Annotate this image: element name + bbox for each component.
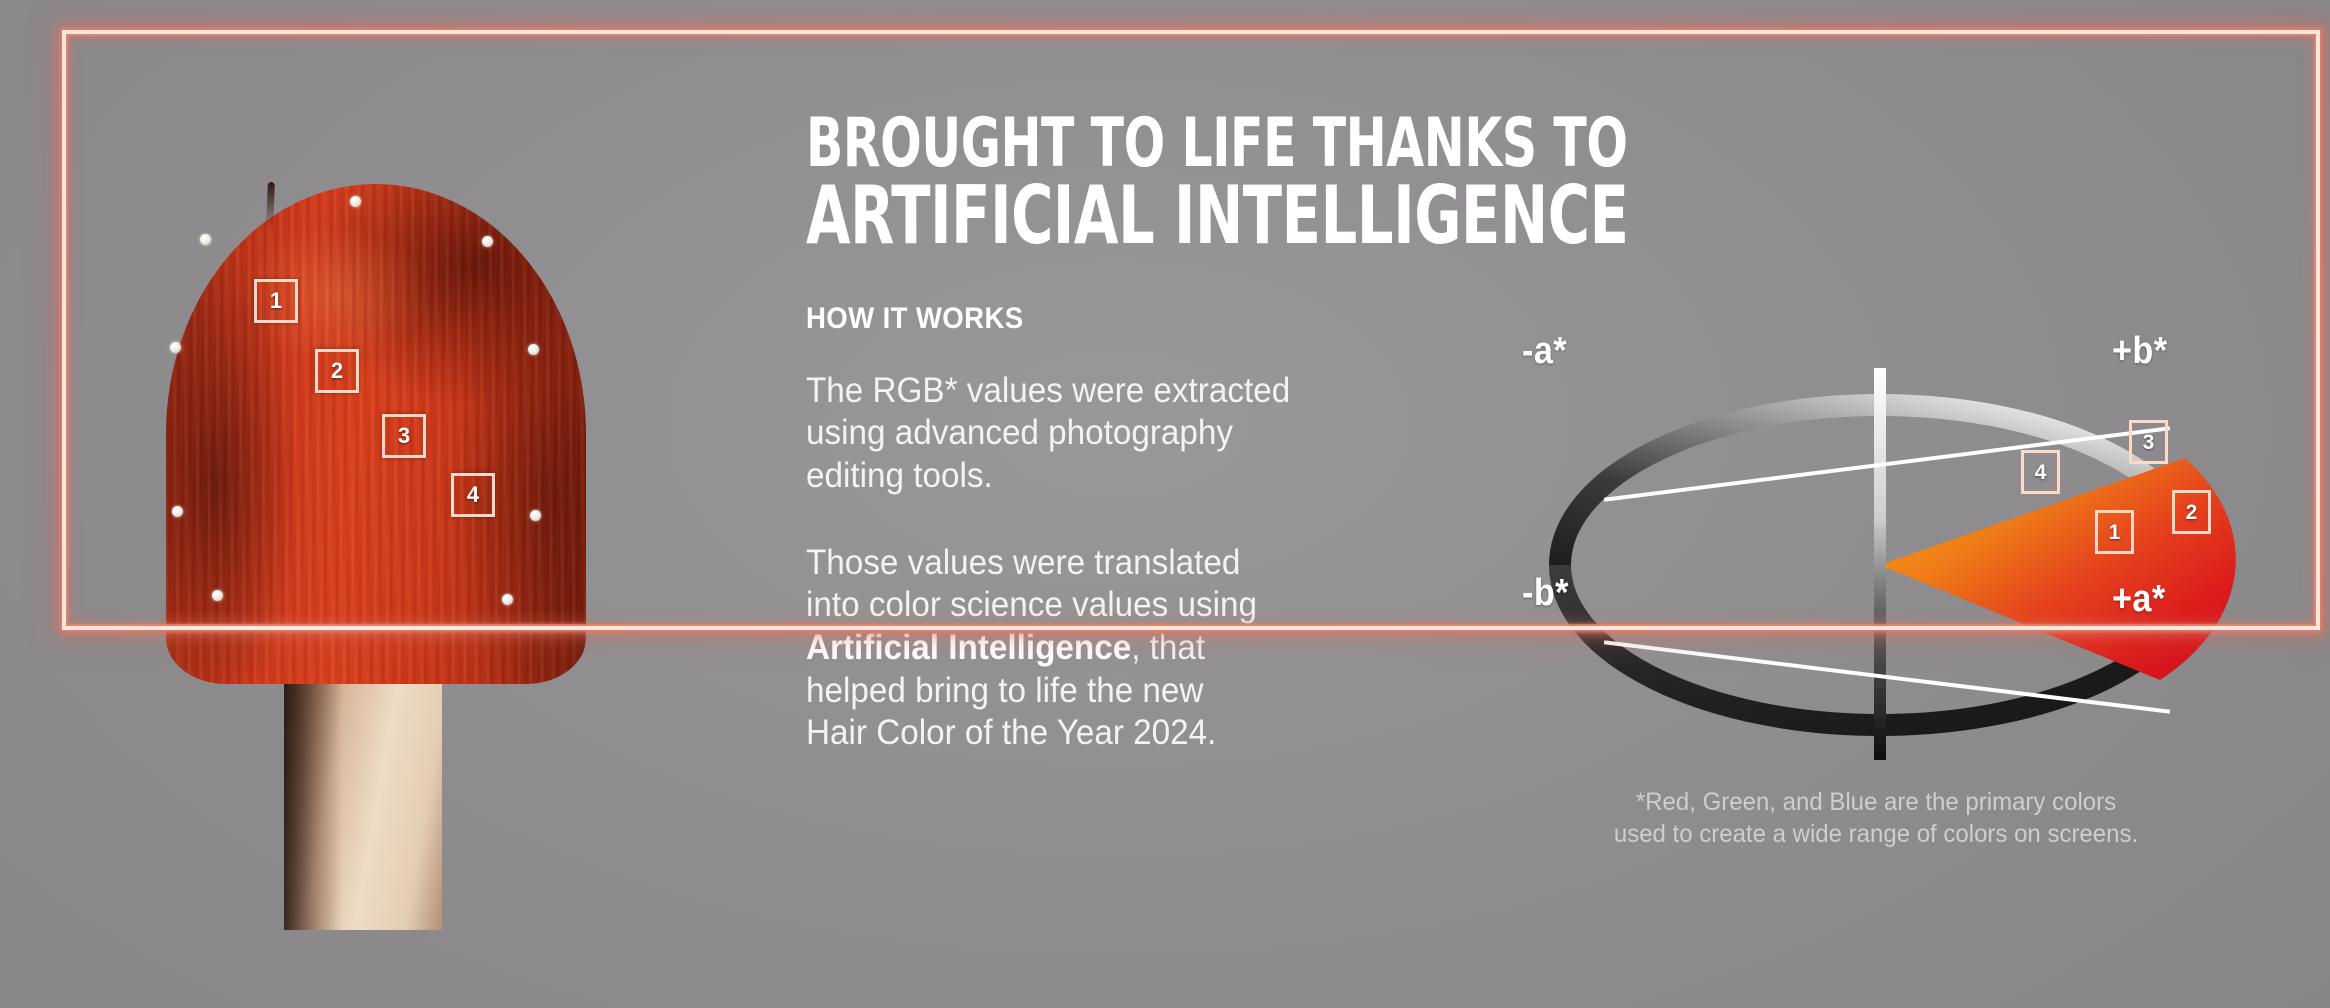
lab-point-label: 3 <box>2143 431 2155 454</box>
hair-sample-square-1[interactable]: 1 <box>254 279 298 323</box>
tracking-dot <box>530 510 541 521</box>
hair-figure: 1 2 3 4 <box>62 34 682 930</box>
headline-line-2: ARTIFICIAL INTELLIGENCE <box>806 179 1318 253</box>
emphasis-artificial-intelligence: Artificial Intelligence <box>806 628 1131 667</box>
tracking-dot <box>200 234 211 245</box>
lab-point-chip-2[interactable]: 2 <box>2172 490 2211 534</box>
tracking-dot <box>172 506 183 517</box>
section-kicker: HOW IT WORKS <box>806 302 1395 336</box>
hair-photo: 1 2 3 4 <box>62 34 682 930</box>
footnote-rgb-definition: *Red, Green, and Blue are the primary co… <box>1511 786 2241 850</box>
tracking-dot <box>350 196 361 207</box>
axis-label-a-positive: +a* <box>2112 578 2166 621</box>
paragraph-part-a: Those values were translated into color … <box>806 543 1257 625</box>
tracking-dot <box>170 342 181 353</box>
axis-label-a-negative: -a* <box>1522 330 1567 373</box>
hair-sample-label: 2 <box>331 358 343 383</box>
cielab-color-space-diagram: -a* +b* -b* +a* 1 2 3 4 <box>1500 350 2260 770</box>
hair-sample-square-3[interactable]: 3 <box>382 414 426 458</box>
infographic-canvas: 1 2 3 4 BROUGHT TO LIFE THANKS TO ARTIFI… <box>0 0 2330 1008</box>
lab-point-chip-1[interactable]: 1 <box>2095 510 2134 554</box>
lab-point-label: 1 <box>2109 521 2121 544</box>
axis-label-b-positive: +b* <box>2112 330 2168 373</box>
paragraph-ai-translation: Those values were translated into color … <box>806 542 1414 755</box>
lab-point-chip-4[interactable]: 4 <box>2021 450 2060 494</box>
hair-sample-square-2[interactable]: 2 <box>315 349 359 393</box>
paragraph-rgb-extraction: The RGB* values were extracted using adv… <box>806 370 1414 498</box>
lab-point-label: 2 <box>2186 501 2198 524</box>
tracking-dot <box>212 590 223 601</box>
l-star-axis <box>1874 368 1886 760</box>
copy-column: BROUGHT TO LIFE THANKS TO ARTIFICIAL INT… <box>806 112 1446 755</box>
tracking-dot <box>528 344 539 355</box>
lab-point-chip-3[interactable]: 3 <box>2129 420 2168 464</box>
bob-haircut <box>166 184 586 684</box>
hair-sample-label: 4 <box>467 482 479 507</box>
tracking-dot <box>502 594 513 605</box>
cielab-svg <box>1500 350 2260 770</box>
page-title: BROUGHT TO LIFE THANKS TO ARTIFICIAL INT… <box>806 112 1318 254</box>
hair-strand-texture-fine <box>166 184 586 684</box>
hair-sample-label: 1 <box>270 288 282 313</box>
axis-label-b-negative: -b* <box>1522 572 1569 615</box>
lab-point-label: 4 <box>2035 461 2047 484</box>
hair-sample-square-4[interactable]: 4 <box>451 473 495 517</box>
hair-sample-label: 3 <box>398 423 410 448</box>
tracking-dot <box>482 236 493 247</box>
